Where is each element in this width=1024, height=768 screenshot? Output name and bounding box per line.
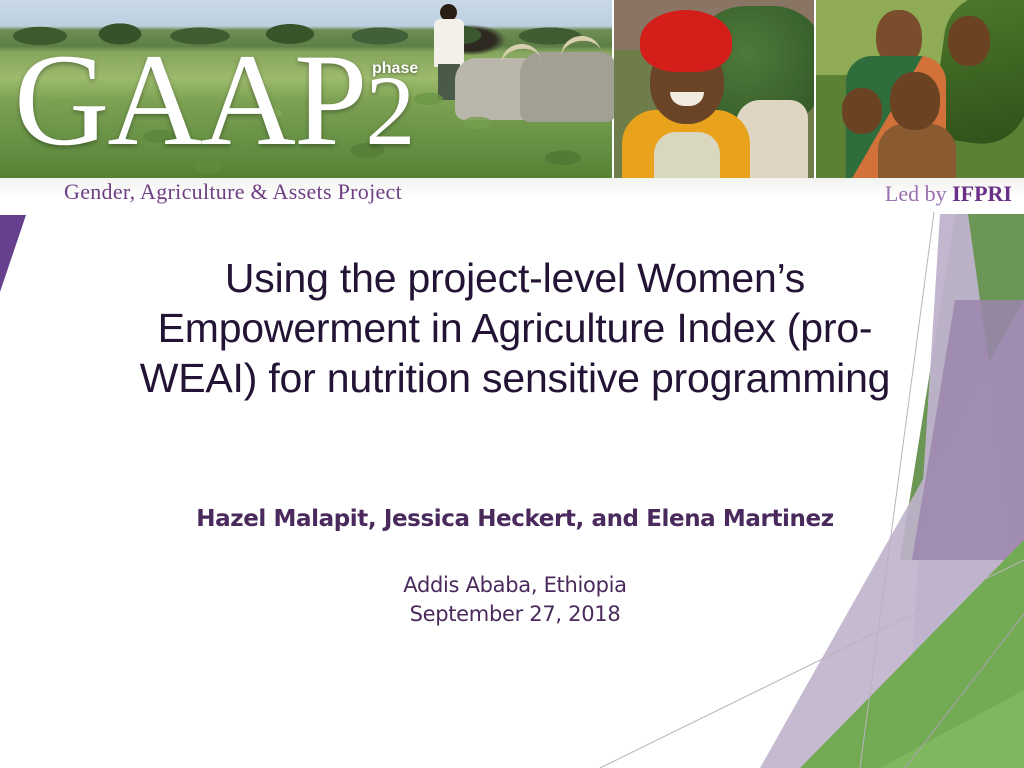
right-purple-sliver <box>905 214 1024 768</box>
venue-date: September 27, 2018 <box>110 600 920 629</box>
presentation-title-slide: GAAP2 phase Gender, Agriculture & Assets… <box>0 0 1024 768</box>
bottom-right-green-accent <box>880 690 1024 768</box>
child-front <box>890 72 940 130</box>
farmer-figure <box>432 4 466 100</box>
venue-location: Addis Ababa, Ethiopia <box>110 571 920 600</box>
gaap-logo-letters: GAAP <box>14 26 365 173</box>
mother-with-children-photo <box>816 0 1024 178</box>
gaap-logo-phase-label: phase <box>372 60 418 78</box>
slide-authors: Hazel Malapit, Jessica Heckert, and Elen… <box>110 506 920 532</box>
left-purple-wedge <box>0 215 26 292</box>
ifpri-org-name: IFPRI <box>952 181 1012 206</box>
woman-with-red-headscarf-photo <box>614 0 814 178</box>
ox-right <box>520 52 616 122</box>
red-headscarf <box>640 10 732 72</box>
project-tagline: Gender, Agriculture & Assets Project <box>64 179 402 205</box>
child-on-hip <box>948 16 990 66</box>
woman-inner-shirt <box>654 132 720 178</box>
child-torso <box>878 124 956 178</box>
purple-green-overlap <box>912 300 1024 560</box>
slide-title: Using the project-level Women’s Empowerm… <box>110 253 920 403</box>
gaap-logo-wordmark: GAAP2 <box>14 34 413 166</box>
led-by-ifpri-credit: Led by IFPRI <box>885 181 1012 207</box>
hairline-mid-diagonal <box>905 614 1024 768</box>
farmer-shirt <box>434 19 464 67</box>
header-banner: GAAP2 phase <box>0 0 1024 178</box>
child-small <box>842 88 882 134</box>
led-by-prefix: Led by <box>885 181 952 206</box>
slide-venue: Addis Ababa, Ethiopia September 27, 2018 <box>110 571 920 629</box>
